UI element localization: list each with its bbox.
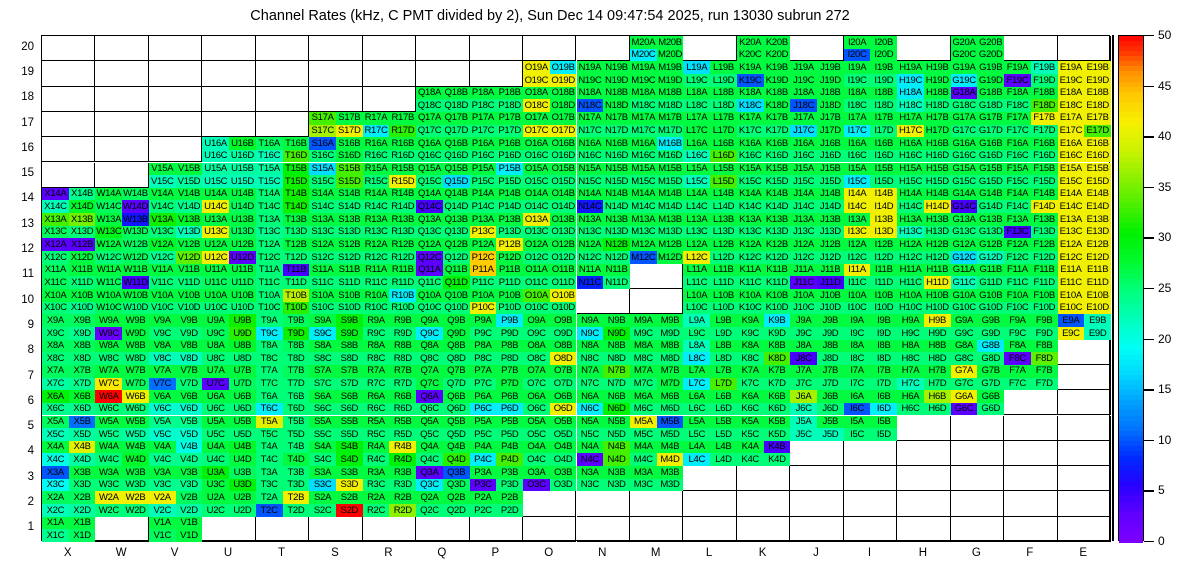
- channel-cell: O14A: [523, 188, 550, 201]
- channel-cell: T11A: [256, 264, 283, 277]
- channel-cell: M13B: [657, 213, 684, 226]
- channel-cell: M9B: [657, 314, 684, 327]
- grid-cell: O7AO7BO7CO7D: [523, 365, 576, 390]
- channel-cell: W11C: [95, 276, 122, 289]
- channel-cell: F7B: [1031, 365, 1058, 378]
- channel-cell: H8B: [924, 340, 951, 353]
- grid-cell: L12AL12BL12CL12D: [683, 238, 736, 263]
- channel-cell: S11C: [309, 276, 336, 289]
- channel-cell: G13A: [951, 213, 978, 226]
- channel-cell: P15A: [470, 163, 497, 176]
- channel-cell: U3C: [202, 479, 229, 492]
- channel-cell: R15B: [389, 163, 416, 176]
- channel-cell: T3B: [283, 466, 310, 479]
- channel-cell: K13D: [764, 226, 791, 239]
- grid-cell: [309, 517, 362, 542]
- channel-cell: Q15C: [416, 175, 443, 188]
- channel-cell: K15A: [737, 163, 764, 176]
- channel-cell: T3D: [283, 479, 310, 492]
- channel-cell: O18D: [550, 99, 577, 112]
- grid-cell: V4AV4BV4CV4D: [149, 441, 202, 466]
- channel-cell: V13B: [176, 213, 203, 226]
- channel-cell: S7B: [336, 365, 363, 378]
- grid-cell: L10AL10BL10CL10D: [683, 289, 736, 314]
- channel-cell: G10C: [951, 302, 978, 315]
- channel-cell: H12C: [897, 251, 924, 264]
- channel-cell: K11A: [737, 264, 764, 277]
- grid-cell: [309, 87, 362, 112]
- x-axis-ticks: XWVUTSRQPONMLKJIHGFE: [41, 545, 1110, 565]
- channel-cell: L12A: [683, 238, 710, 251]
- channel-cell: M4C: [630, 453, 657, 466]
- channel-cell: Q9B: [443, 314, 470, 327]
- channel-cell: K9D: [764, 327, 791, 340]
- channel-cell: R5B: [389, 416, 416, 429]
- channel-cell: Q4A: [416, 441, 443, 454]
- grid-cell: T5AT5BT5CT5D: [256, 416, 309, 441]
- colorbar-tick: [1144, 237, 1154, 238]
- channel-cell: N13A: [577, 213, 604, 226]
- channel-cell: E11C: [1058, 276, 1085, 289]
- channel-cell: S8C: [309, 352, 336, 365]
- channel-cell: O11C: [523, 276, 550, 289]
- channel-cell: G9D: [977, 327, 1004, 340]
- channel-cell: X10B: [69, 289, 96, 302]
- channel-cell: E19A: [1058, 61, 1085, 74]
- channel-cell: S14D: [336, 200, 363, 213]
- grid-cell: K17AK17BK17CK17D: [737, 112, 790, 137]
- channel-cell: H12A: [897, 238, 924, 251]
- channel-cell: M9A: [630, 314, 657, 327]
- channel-cell: N9B: [603, 314, 630, 327]
- colorbar-tick: [1144, 136, 1154, 137]
- channel-cell: X9B: [69, 314, 96, 327]
- grid-cell: [897, 441, 950, 466]
- grid-cell: O19AO19BO19CO19D: [523, 61, 576, 86]
- channel-cell: J6B: [817, 390, 844, 403]
- grid-cell: U16AU16BU16CU16D: [202, 137, 255, 162]
- channel-cell: W3D: [122, 479, 149, 492]
- grid-cell: E18AE18BE18CE18D: [1058, 87, 1111, 112]
- grid-cell: X14AX14BX14CX14D: [42, 188, 95, 213]
- grid-cell: J16AJ16BJ16CJ16D: [790, 137, 843, 162]
- channel-cell: W8B: [122, 340, 149, 353]
- channel-cell: U8C: [202, 352, 229, 365]
- channel-cell: M14C: [630, 200, 657, 213]
- channel-cell: N16D: [603, 150, 630, 163]
- channel-cell: P12C: [470, 251, 497, 264]
- channel-cell: L15B: [710, 163, 737, 176]
- channel-cell: Q4D: [443, 453, 470, 466]
- channel-cell: H19B: [924, 61, 951, 74]
- channel-cell: J10D: [817, 302, 844, 315]
- y-axis-tick-label: 17: [6, 117, 34, 129]
- channel-cell: E15D: [1084, 175, 1111, 188]
- channel-cell: Q16A: [416, 137, 443, 150]
- channel-cell: V2A: [149, 491, 176, 504]
- channel-cell: X9A: [42, 314, 69, 327]
- channel-cell: T12A: [256, 238, 283, 251]
- channel-cell: L14A: [683, 188, 710, 201]
- channel-cell: J11B: [817, 264, 844, 277]
- grid-cell: [256, 517, 309, 542]
- channel-cell: N16C: [577, 150, 604, 163]
- channel-cell: V3A: [149, 466, 176, 479]
- channel-cell: V2C: [149, 504, 176, 517]
- channel-cell: T9C: [256, 327, 283, 340]
- channel-cell: L11B: [710, 264, 737, 277]
- channel-cell: K17D: [764, 125, 791, 138]
- channel-cell: O18C: [523, 99, 550, 112]
- channel-cell: Q2A: [416, 491, 443, 504]
- colorbar-tick: [1144, 541, 1154, 542]
- grid-cell: P3AP3BP3CP3D: [470, 466, 523, 491]
- grid-cell: [1058, 491, 1111, 516]
- channel-cell: I19A: [844, 61, 871, 74]
- channel-cell: R11D: [389, 276, 416, 289]
- channel-cell: O6B: [550, 390, 577, 403]
- channel-cell: O18A: [523, 87, 550, 100]
- channel-cell: H7B: [924, 365, 951, 378]
- channel-cell: T16C: [256, 150, 283, 163]
- channel-cell: T7A: [256, 365, 283, 378]
- channel-cell: X5C: [42, 428, 69, 441]
- grid-cell: I20AI20BI20CI20D: [844, 36, 897, 61]
- channel-cell: R11C: [363, 276, 390, 289]
- x-axis-tick-label: G: [950, 547, 1003, 559]
- channel-cell: V8A: [149, 340, 176, 353]
- channel-cell: V4A: [149, 441, 176, 454]
- grid-cell: U13AU13BU13CU13D: [202, 213, 255, 238]
- channel-cell: W13A: [95, 213, 122, 226]
- channel-cell: Q10C: [416, 302, 443, 315]
- channel-cell: O13B: [550, 213, 577, 226]
- channel-cell: T7C: [256, 378, 283, 391]
- channel-cell: X14A: [42, 188, 69, 201]
- channel-cell: X11B: [69, 264, 96, 277]
- channel-cell: N6A: [577, 390, 604, 403]
- channel-cell: L16C: [683, 150, 710, 163]
- channel-cell: V5A: [149, 416, 176, 429]
- colorbar-tick-label: 35: [1158, 180, 1171, 194]
- channel-cell: S6D: [336, 403, 363, 416]
- channel-cell: I7A: [844, 365, 871, 378]
- channel-cell: H13A: [897, 213, 924, 226]
- grid-cell: M13AM13BM13CM13D: [630, 213, 683, 238]
- grid-cell: Q6AQ6BQ6CQ6D: [416, 390, 469, 415]
- channel-cell: L13D: [710, 226, 737, 239]
- channel-cell: V11A: [149, 264, 176, 277]
- grid-cell: X8AX8BX8CX8D: [42, 340, 95, 365]
- x-axis-tick-label: K: [736, 547, 789, 559]
- channel-cell: M14B: [657, 188, 684, 201]
- x-axis-tick-label: U: [201, 547, 254, 559]
- channel-cell: O7B: [550, 365, 577, 378]
- channel-cell: G20A: [951, 36, 978, 49]
- channel-cell: I16C: [844, 150, 871, 163]
- channel-cell: X10D: [69, 302, 96, 315]
- channel-cell: J15D: [817, 175, 844, 188]
- channel-cell: O16B: [550, 137, 577, 150]
- channel-cell: I9B: [870, 314, 897, 327]
- channel-cell: U14D: [229, 200, 256, 213]
- channel-cell: K18A: [737, 87, 764, 100]
- grid-cell: V11AV11BV11CV11D: [149, 264, 202, 289]
- channel-cell: K6A: [737, 390, 764, 403]
- channel-cell: H10B: [924, 289, 951, 302]
- channel-cell: O13C: [523, 226, 550, 239]
- channel-cell: Q11B: [443, 264, 470, 277]
- channel-cell: I18A: [844, 87, 871, 100]
- channel-cell: K15D: [764, 175, 791, 188]
- channel-cell: N3B: [603, 466, 630, 479]
- channel-cell: V4D: [176, 453, 203, 466]
- y-axis-tick-label: 19: [6, 66, 34, 78]
- channel-cell: F9A: [1004, 314, 1031, 327]
- grid-cell: V6AV6BV6CV6D: [149, 390, 202, 415]
- channel-cell: G10B: [977, 289, 1004, 302]
- channel-cell: J7A: [790, 365, 817, 378]
- grid-cell: L4AL4BL4CL4D: [683, 441, 736, 466]
- grid-cell: [790, 466, 843, 491]
- channel-cell: J7D: [817, 378, 844, 391]
- channel-cell: Q15D: [443, 175, 470, 188]
- channel-cell: J12C: [790, 251, 817, 264]
- channel-cell: J9C: [790, 327, 817, 340]
- channel-cell: X13C: [42, 226, 69, 239]
- channel-cell: S6A: [309, 390, 336, 403]
- channel-cell: M20C: [630, 49, 657, 62]
- grid-cell: O18AO18BO18CO18D: [523, 87, 576, 112]
- channel-cell: K13C: [737, 226, 764, 239]
- channel-cell: J16D: [817, 150, 844, 163]
- channel-cell: S13A: [309, 213, 336, 226]
- channel-cell: Q14A: [416, 188, 443, 201]
- channel-cell: L5B: [710, 416, 737, 429]
- channel-cell: J12D: [817, 251, 844, 264]
- grid-cell: [363, 517, 416, 542]
- channel-cell: J13A: [790, 213, 817, 226]
- channel-cell: M12C: [630, 251, 657, 264]
- channel-cell: I14C: [844, 200, 871, 213]
- channel-cell: P16C: [470, 150, 497, 163]
- channel-cell: V14D: [176, 200, 203, 213]
- channel-cell: N9A: [577, 314, 604, 327]
- x-axis-tick-label: S: [308, 547, 361, 559]
- channel-cell: L9B: [710, 314, 737, 327]
- grid-cell: U7AU7BU7CU7D: [202, 365, 255, 390]
- channel-cell: H15A: [897, 163, 924, 176]
- channel-cell: S12D: [336, 251, 363, 264]
- channel-cell: G18C: [951, 99, 978, 112]
- channel-cell: U16A: [202, 137, 229, 150]
- channel-cell: Q8C: [416, 352, 443, 365]
- channel-cell: V15D: [176, 175, 203, 188]
- channel-cell: V15B: [176, 163, 203, 176]
- channel-cell: H6D: [924, 403, 951, 416]
- grid-cell: [363, 87, 416, 112]
- grid-cell: N15AN15BN15CN15D: [577, 163, 630, 188]
- grid-cell: X9AX9BX9CX9D: [42, 314, 95, 339]
- channel-cell: F9D: [1031, 327, 1058, 340]
- channel-cell: E15A: [1058, 163, 1085, 176]
- channel-cell: U5A: [202, 416, 229, 429]
- channel-cell: I16A: [844, 137, 871, 150]
- page-title: Channel Rates (kHz, C PMT divided by 2),…: [0, 8, 1100, 24]
- channel-cell: U6B: [229, 390, 256, 403]
- channel-cell: H11D: [924, 276, 951, 289]
- channel-cell: G7B: [977, 365, 1004, 378]
- channel-cell: F7D: [1031, 378, 1058, 391]
- grid-cell: [149, 87, 202, 112]
- channel-cell: W6C: [95, 403, 122, 416]
- channel-cell: K4A: [737, 441, 764, 454]
- channel-cell: O19B: [550, 61, 577, 74]
- channel-cell: W4D: [122, 453, 149, 466]
- grid-cell: M3AM3BM3CM3D: [630, 466, 683, 491]
- channel-cell: P14D: [496, 200, 523, 213]
- channel-cell: U15C: [202, 175, 229, 188]
- grid-cell: U4AU4BU4CU4D: [202, 441, 255, 466]
- channel-cell: L11C: [683, 276, 710, 289]
- grid-cell: [95, 112, 148, 137]
- grid-cell: G19AG19BG19CG19D: [951, 61, 1004, 86]
- channel-cell: M17A: [630, 112, 657, 125]
- channel-cell: M15A: [630, 163, 657, 176]
- x-axis-tick-label: X: [41, 547, 94, 559]
- grid-cell: F16AF16BF16CF16D: [1004, 137, 1057, 162]
- channel-cell: I15B: [870, 163, 897, 176]
- channel-cell: O4D: [550, 453, 577, 466]
- channel-cell: R16B: [389, 137, 416, 150]
- grid-cell: [683, 466, 736, 491]
- channel-cell: R7C: [363, 378, 390, 391]
- channel-cell: R5C: [363, 428, 390, 441]
- channel-cell: P11D: [496, 276, 523, 289]
- channel-cell: T2C: [256, 504, 283, 517]
- grid-cell: [630, 491, 683, 516]
- channel-cell: U7A: [202, 365, 229, 378]
- grid-cell: [1004, 517, 1057, 542]
- grid-cell: V3AV3BV3CV3D: [149, 466, 202, 491]
- channel-cell: U15A: [202, 163, 229, 176]
- channel-cell: H9D: [924, 327, 951, 340]
- channel-cell: S11B: [336, 264, 363, 277]
- channel-cell: T14C: [256, 200, 283, 213]
- channel-cell: G11B: [977, 264, 1004, 277]
- channel-cell: O17B: [550, 112, 577, 125]
- channel-cell: V5B: [176, 416, 203, 429]
- channel-cell: M6C: [630, 403, 657, 416]
- channel-cell: K10C: [737, 302, 764, 315]
- grid-cell: P18AP18BP18CP18D: [470, 87, 523, 112]
- colorbar-tick: [1144, 86, 1154, 87]
- channel-cell: G6A: [951, 390, 978, 403]
- grid-cell: [1004, 36, 1057, 61]
- channel-cell: N16A: [577, 137, 604, 150]
- channel-cell: T12D: [283, 251, 310, 264]
- channel-cell: N15C: [577, 175, 604, 188]
- channel-cell: F17A: [1004, 112, 1031, 125]
- channel-cell: M8A: [630, 340, 657, 353]
- channel-cell: T6C: [256, 403, 283, 416]
- grid-cell: G9AG9BG9CG9D: [951, 314, 1004, 339]
- grid-cell: N11AN11BN11CN11D: [577, 264, 630, 289]
- channel-cell: K20C: [737, 49, 764, 62]
- channel-cell: U5D: [229, 428, 256, 441]
- grid-cell: [897, 466, 950, 491]
- channel-cell: K4C: [737, 453, 764, 466]
- grid-cell: [256, 112, 309, 137]
- channel-cell: W14B: [122, 188, 149, 201]
- colorbar-tick: [1144, 389, 1154, 390]
- channel-cell: P6A: [470, 390, 497, 403]
- channel-cell: O6A: [523, 390, 550, 403]
- grid-cell: V15AV15BV15CV15D: [149, 163, 202, 188]
- channel-cell: N18C: [577, 99, 604, 112]
- channel-cell: P18A: [470, 87, 497, 100]
- grid-cell: O3AO3BO3CO3D: [523, 466, 576, 491]
- channel-cell: I18B: [870, 87, 897, 100]
- channel-cell: G18D: [977, 99, 1004, 112]
- grid-cell: W2AW2BW2CW2D: [95, 491, 148, 516]
- grid-cell: X13AX13BX13CX13D: [42, 213, 95, 238]
- grid-cell: F18AF18BF18CF18D: [1004, 87, 1057, 112]
- channel-cell: E15B: [1084, 163, 1111, 176]
- grid-cell: F8AF8BF8CF8D: [1004, 340, 1057, 365]
- grid-cell: H6AH6BH6CH6D: [897, 390, 950, 415]
- channel-cell: Q7C: [416, 378, 443, 391]
- channel-cell: I16B: [870, 137, 897, 150]
- channel-cell: L10D: [710, 302, 737, 315]
- grid-cell: [95, 163, 148, 188]
- channel-cell: I18C: [844, 99, 871, 112]
- channel-cell: R9A: [363, 314, 390, 327]
- channel-cell: X6B: [69, 390, 96, 403]
- grid-cell: Q4AQ4BQ4CQ4D: [416, 441, 469, 466]
- channel-cell: P10A: [470, 289, 497, 302]
- channel-cell: I8D: [870, 352, 897, 365]
- channel-cell: K13A: [737, 213, 764, 226]
- channel-cell: J13B: [817, 213, 844, 226]
- channel-cell: I13B: [870, 213, 897, 226]
- grid-cell: W14AW14BW14CW14D: [95, 188, 148, 213]
- grid-cell: [951, 491, 1004, 516]
- channel-cell: F15D: [1031, 175, 1058, 188]
- channel-cell: X1C: [42, 529, 69, 542]
- channel-cell: I10D: [870, 302, 897, 315]
- channel-cell: J8D: [817, 352, 844, 365]
- channel-cell: F9B: [1031, 314, 1058, 327]
- channel-cell: M19B: [657, 61, 684, 74]
- grid-cell: P15AP15BP15CP15D: [470, 163, 523, 188]
- channel-cell: G8D: [977, 352, 1004, 365]
- channel-cell: U10A: [202, 289, 229, 302]
- channel-cell: U10B: [229, 289, 256, 302]
- grid-cell: F11AF11BF11CF11D: [1004, 264, 1057, 289]
- channel-cell: L16B: [710, 137, 737, 150]
- grid-cell: V1AV1BV1CV1D: [149, 517, 202, 542]
- grid-cell: [523, 517, 576, 542]
- channel-cell: O5C: [523, 428, 550, 441]
- grid-cell: O10AO10BO10CO10D: [523, 289, 576, 314]
- grid-cell: P2AP2BP2CP2D: [470, 491, 523, 516]
- channel-cell: P4C: [470, 453, 497, 466]
- grid-cell: R14AR14BR14CR14D: [363, 188, 416, 213]
- channel-cell: Q18D: [443, 99, 470, 112]
- channel-cell: Q14D: [443, 200, 470, 213]
- grid-cell: H19AH19BH19CH19D: [897, 61, 950, 86]
